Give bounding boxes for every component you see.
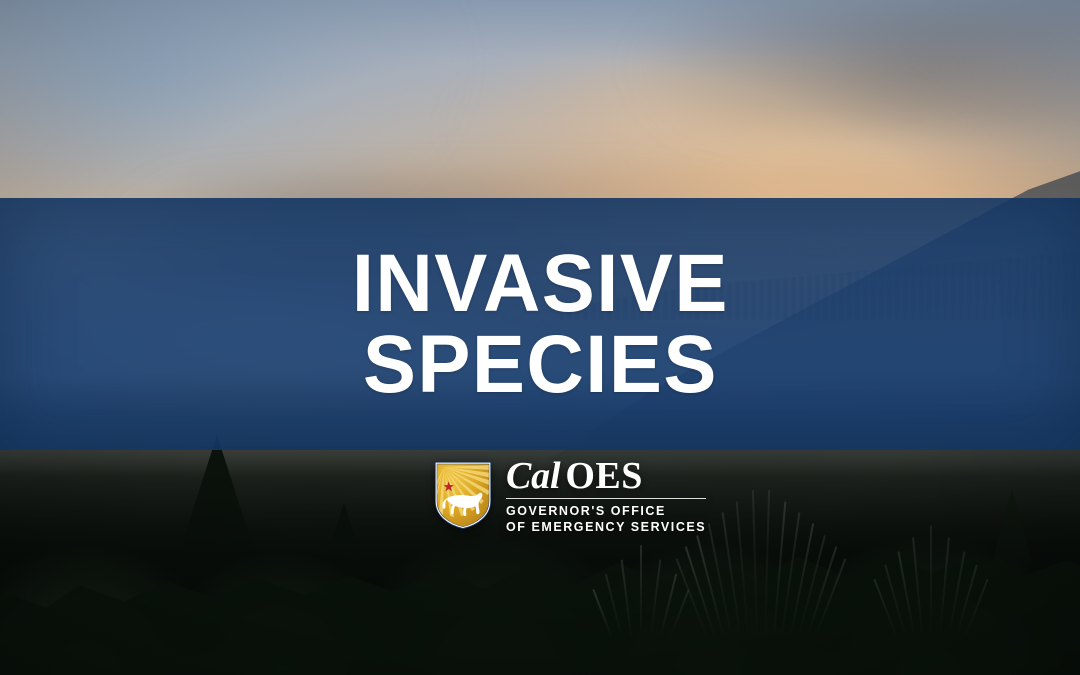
cal-oes-logo[interactable]: CalOES GOVERNOR'S OFFICE OF EMERGENCY SE… xyxy=(434,455,706,535)
grass-blade xyxy=(640,545,642,635)
cloud-dark-upper-right xyxy=(605,0,1080,135)
invasive-species-banner: INVASIVE SPECIES xyxy=(0,0,1080,675)
cal-oes-wordmark: CalOES xyxy=(506,457,706,495)
title-line-2: SPECIES xyxy=(351,324,728,405)
tagline-line-1: GOVERNOR'S OFFICE xyxy=(506,503,706,519)
california-bear-shield-icon xyxy=(434,461,492,529)
wordmark-divider xyxy=(506,498,706,499)
title-line-1: INVASIVE xyxy=(351,243,728,324)
tagline-line-2: OF EMERGENCY SERVICES xyxy=(506,519,706,535)
grass-blade xyxy=(930,525,932,635)
cal-oes-tagline: GOVERNOR'S OFFICE OF EMERGENCY SERVICES xyxy=(506,503,706,535)
page-title: INVASIVE SPECIES xyxy=(351,243,728,405)
title-band: INVASIVE SPECIES xyxy=(0,198,1080,450)
wordmark-oes: OES xyxy=(565,455,643,497)
cal-oes-wordmark-block: CalOES GOVERNOR'S OFFICE OF EMERGENCY SE… xyxy=(506,455,706,535)
wordmark-cal: Cal xyxy=(506,455,560,497)
